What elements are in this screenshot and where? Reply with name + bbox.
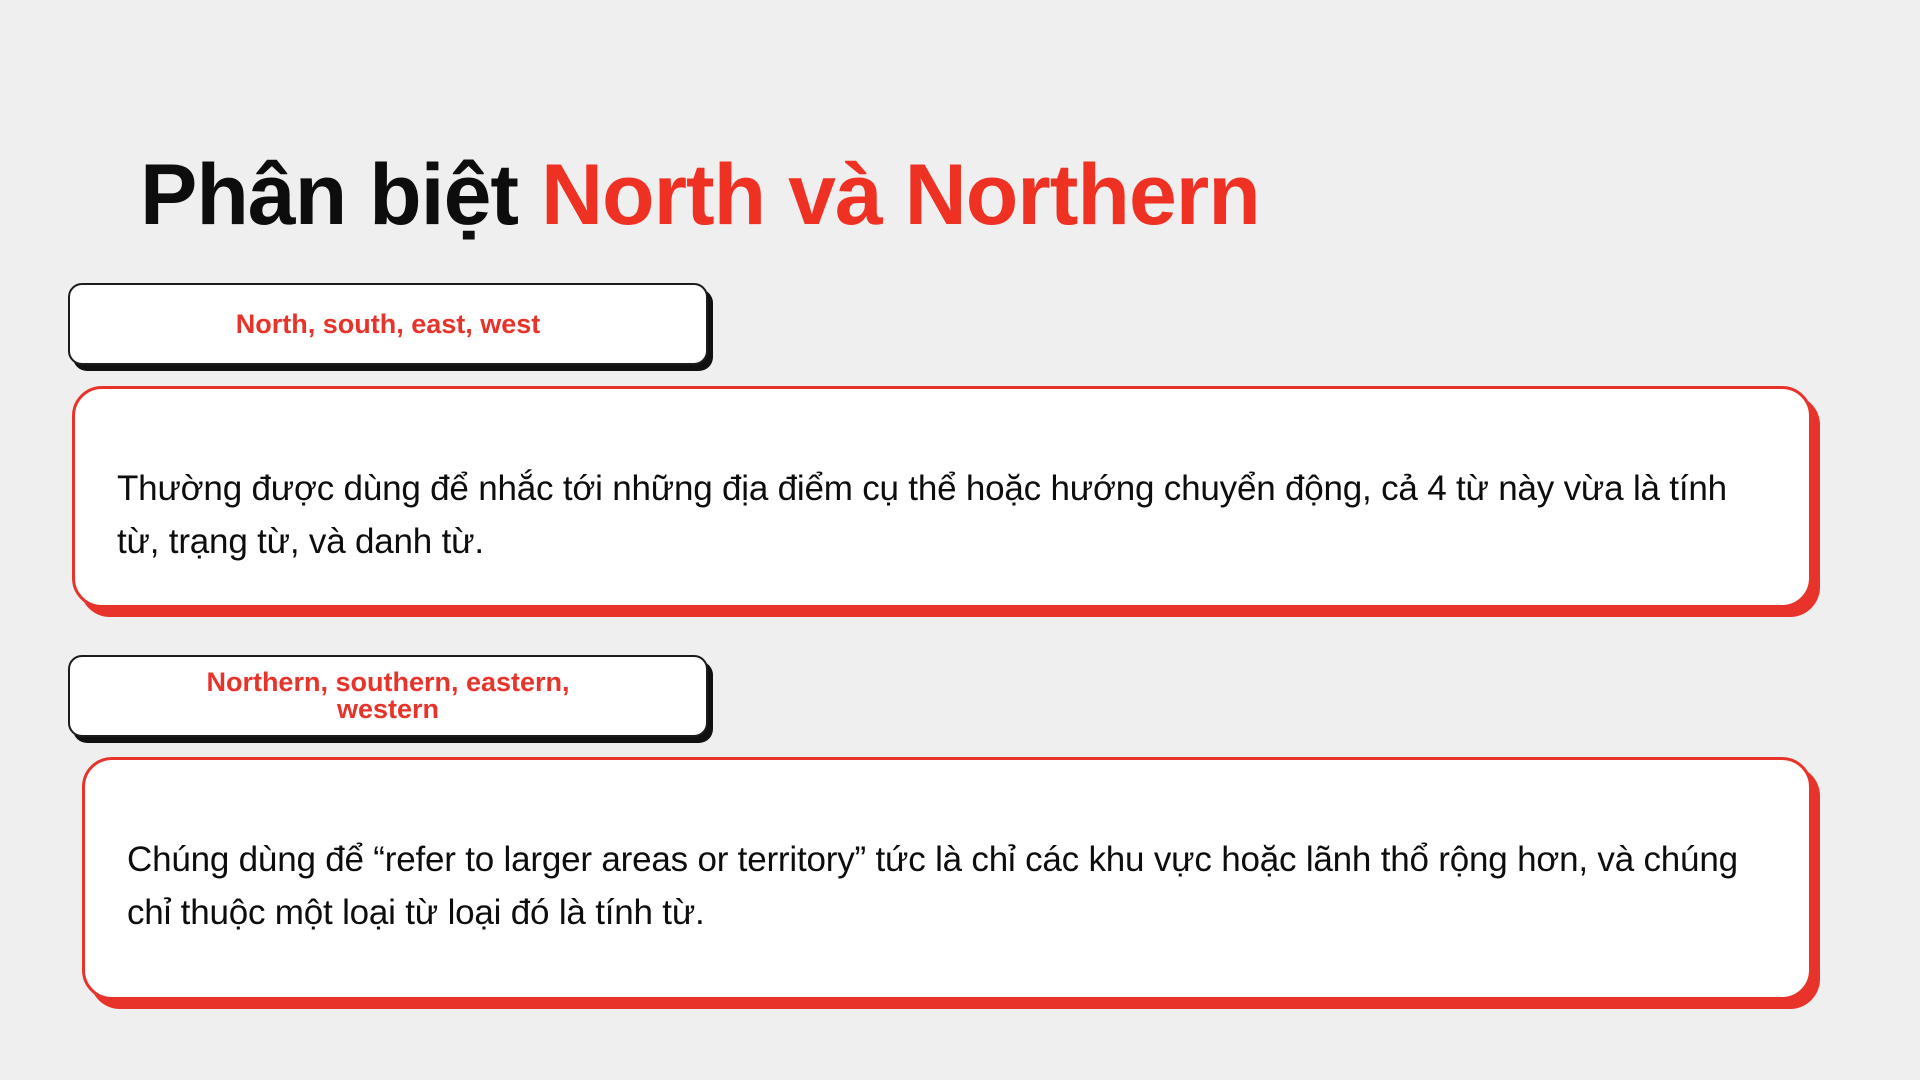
section-body-card-1: Thường được dùng để nhắc tới những địa đ… — [72, 386, 1812, 608]
page-title: Phân biệt North và Northern — [140, 150, 1260, 240]
page-title-red-part: North và Northern — [541, 147, 1260, 243]
section-label-chip-2: Northern, southern, eastern, western — [68, 655, 708, 737]
section-label-chip-1: North, south, east, west — [68, 283, 708, 365]
section-body-text-2: Chúng dùng để “refer to larger areas or … — [127, 833, 1767, 939]
section-body-card-2: Chúng dùng để “refer to larger areas or … — [82, 757, 1812, 1000]
slide-canvas: Phân biệt North và Northern North, south… — [0, 0, 1920, 1080]
section-label-text-2: Northern, southern, eastern, western — [173, 669, 603, 723]
section-label-text-1: North, south, east, west — [173, 311, 603, 338]
page-title-black-part: Phân biệt — [140, 147, 541, 243]
section-body-text-1: Thường được dùng để nhắc tới những địa đ… — [117, 462, 1767, 568]
